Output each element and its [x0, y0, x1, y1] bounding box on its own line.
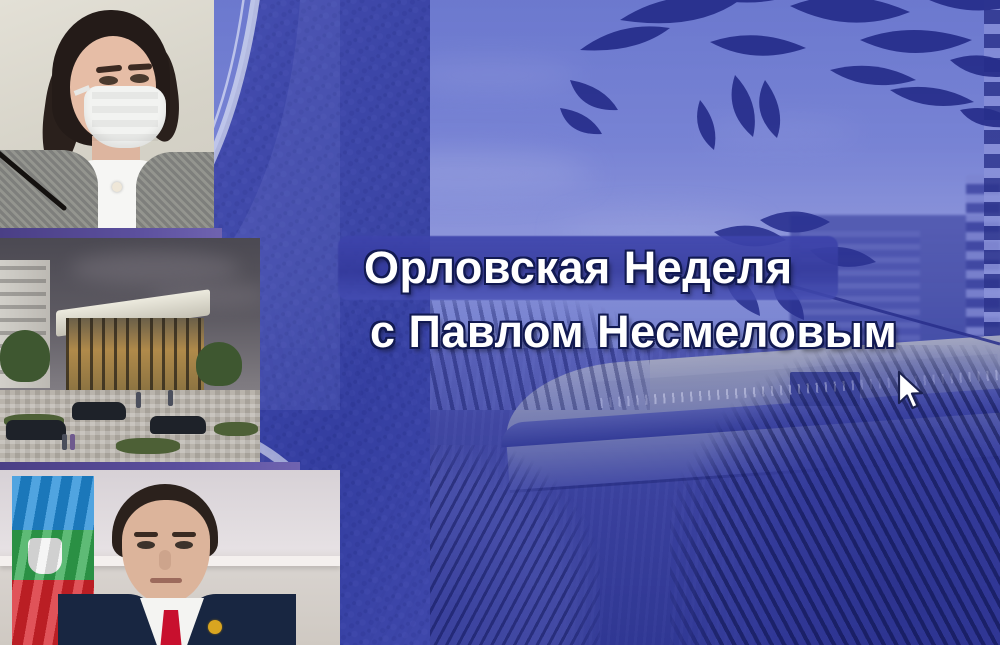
eyebrow [134, 532, 158, 537]
pedestrian [70, 434, 75, 450]
eye [137, 541, 155, 549]
mouth [150, 578, 182, 583]
grey-blazer [136, 152, 214, 228]
grey-blazer [0, 150, 98, 228]
glass-facade [66, 318, 204, 390]
nose [159, 550, 171, 570]
parked-car [6, 420, 66, 440]
eye [99, 76, 118, 85]
tree [0, 330, 50, 382]
pedestrian [168, 390, 173, 406]
inset-photo-man-in-suit [0, 470, 340, 645]
lapel-pin [208, 620, 222, 634]
pedestrian [136, 392, 141, 408]
face-mask [84, 86, 166, 148]
lawn [116, 438, 180, 454]
parked-car [150, 416, 206, 434]
title-line-2: с Павлом Несмеловым [338, 302, 938, 362]
tree [196, 342, 242, 386]
inset-photo-woman-in-mask [0, 0, 214, 228]
parked-car [72, 402, 126, 420]
inset-photo-building-render [0, 238, 260, 462]
lawn [214, 422, 258, 436]
title-line-1: Орловская Неделя [338, 236, 938, 300]
cloud [70, 252, 240, 286]
program-title: Орловская Неделя с Павлом Несмеловым [338, 236, 938, 362]
inset-separator [0, 228, 222, 238]
eyebrow [128, 63, 152, 70]
pedestrian [62, 434, 67, 450]
inset-separator [0, 462, 300, 470]
eye [130, 74, 149, 83]
necklace-pendant [112, 182, 122, 192]
video-frame: Орловская Неделя с Павлом Несмеловым [0, 0, 1000, 645]
eyebrow [172, 532, 196, 537]
eye [175, 541, 193, 549]
